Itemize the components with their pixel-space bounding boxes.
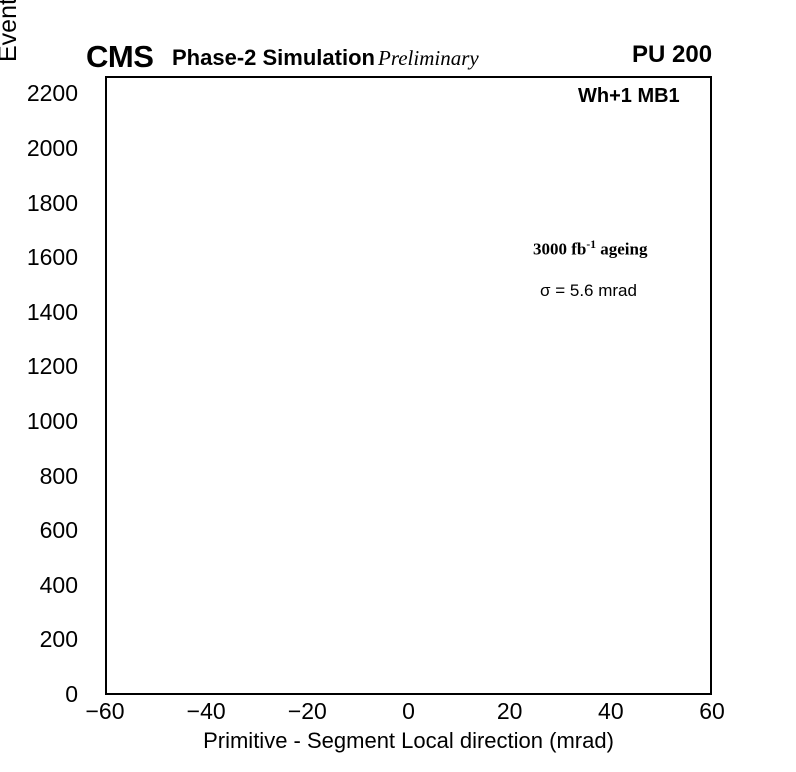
plot-frame	[105, 76, 712, 695]
y-axis-title: Events	[0, 0, 23, 62]
y-tick-label: 1000	[0, 410, 78, 433]
cms-subtitle: Phase-2 Simulation	[172, 47, 375, 69]
pileup-label: PU 200	[632, 43, 712, 67]
x-tick-label: 20	[470, 700, 550, 723]
x-axis-title: Primitive - Segment Local direction (mra…	[105, 728, 712, 754]
luminosity-value: 3000 fb	[533, 240, 586, 259]
y-tick-label: 1400	[0, 301, 78, 324]
y-tick-label: 1600	[0, 246, 78, 269]
y-tick-label: 400	[0, 574, 78, 597]
x-tick-label: 0	[369, 700, 449, 723]
x-tick-label: 60	[672, 700, 752, 723]
y-tick-label: 2000	[0, 137, 78, 160]
luminosity-exponent: -1	[586, 238, 596, 251]
x-tick-label: −60	[65, 700, 145, 723]
x-tick-label: 40	[571, 700, 651, 723]
y-tick-label: 800	[0, 465, 78, 488]
x-tick-label: −20	[267, 700, 347, 723]
sigma-annotation: σ = 5.6 mrad	[540, 282, 637, 299]
y-tick-label: 600	[0, 519, 78, 542]
y-tick-label: 1800	[0, 192, 78, 215]
cms-preliminary-label: Preliminary	[378, 48, 479, 69]
y-tick-label: 1200	[0, 355, 78, 378]
y-tick-label: 2200	[0, 82, 78, 105]
luminosity-annotation: 3000 fb-1 ageing	[533, 239, 647, 258]
x-tick-label: −40	[166, 700, 246, 723]
y-tick-label: 200	[0, 628, 78, 651]
luminosity-suffix: ageing	[596, 240, 647, 259]
chamber-annotation: Wh+1 MB1	[578, 86, 680, 106]
plot-canvas: CMS Phase-2 Simulation Preliminary PU 20…	[0, 0, 796, 772]
cms-logo: CMS	[86, 41, 153, 72]
plot-header: CMS Phase-2 Simulation Preliminary PU 20…	[0, 0, 796, 76]
